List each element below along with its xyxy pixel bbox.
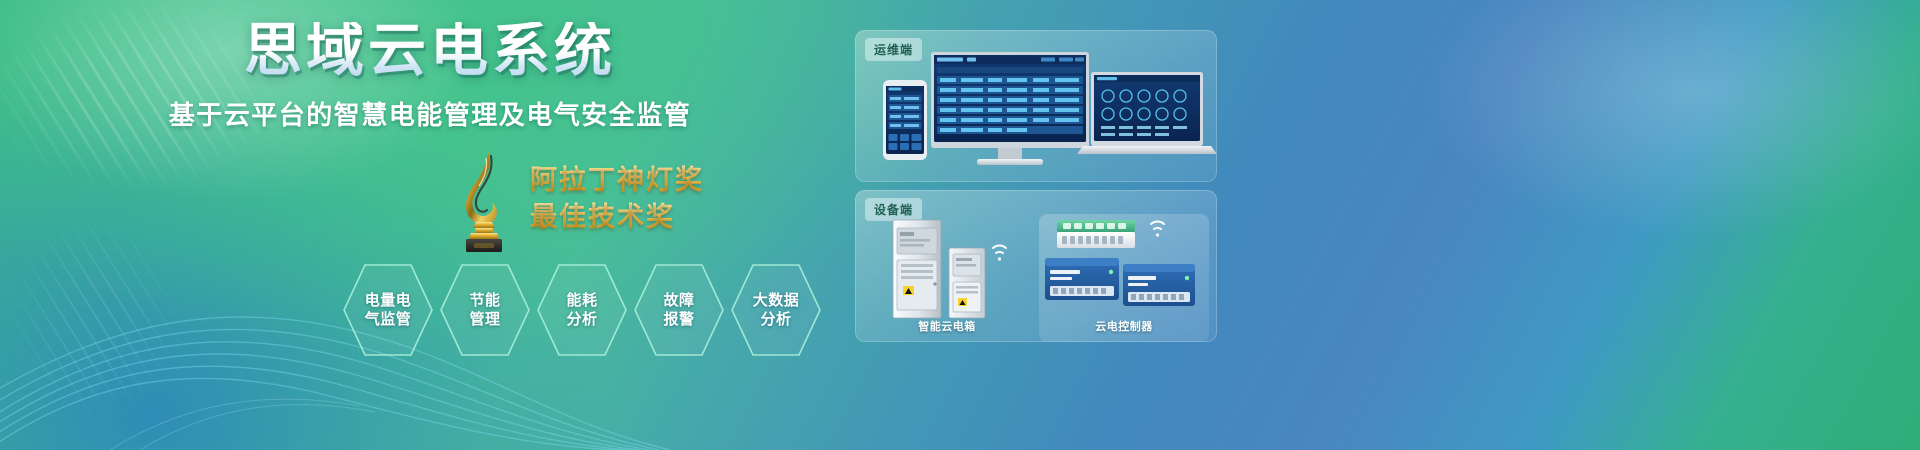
smart-cloud-power-cabinet-item[interactable]: 智能云电箱: [863, 214, 1031, 342]
feature-line-1: 大数据: [753, 291, 800, 311]
feature-badge-big-data-analysis[interactable]: 大数据 分析: [730, 262, 822, 358]
ops-device-mockups: [855, 46, 1217, 176]
device-terminal-panel: 设备端: [855, 190, 1217, 342]
feature-badge-label: 电量电 气监管: [342, 262, 434, 358]
feature-badge-consumption-analysis[interactable]: 能耗 分析: [536, 262, 628, 358]
top-right-glow: [1310, 0, 1920, 300]
award-line-1: 阿拉丁神灯奖: [530, 162, 704, 199]
ops-terminal-panel: 运维端: [855, 30, 1217, 182]
feature-badge-label: 故障 报警: [633, 262, 725, 358]
feature-line-2: 管理: [469, 310, 500, 330]
left-content: 思域云电系统 基于云平台的智慧电能管理及电气安全监管: [0, 0, 860, 450]
feature-badge-label: 大数据 分析: [730, 262, 822, 358]
device-caption: 智能云电箱: [863, 318, 1031, 334]
wifi-icon: [1151, 222, 1164, 237]
feature-badge-energy-saving[interactable]: 节能 管理: [439, 262, 531, 358]
award-text: 阿拉丁神灯奖 最佳技术奖: [530, 162, 704, 237]
cloud-power-controller-item[interactable]: 云电控制器: [1039, 214, 1209, 342]
desktop-monitor-mockup: [931, 52, 1089, 165]
device-caption: 云电控制器: [1039, 318, 1209, 334]
feature-badge-label: 节能 管理: [439, 262, 531, 358]
wifi-icon: [993, 246, 1006, 261]
promo-banner: 思域云电系统 基于云平台的智慧电能管理及电气安全监管: [0, 0, 1920, 450]
feature-badge-power-monitoring[interactable]: 电量电 气监管: [342, 262, 434, 358]
feature-line-1: 故障: [663, 291, 694, 311]
feature-line-2: 分析: [760, 310, 791, 330]
feature-line-2: 气监管: [365, 310, 412, 330]
controller-module-top: [1057, 220, 1135, 248]
cloud-power-controller-icon: [1039, 214, 1209, 322]
controller-module-right: [1123, 264, 1195, 306]
feature-line-2: 报警: [663, 310, 694, 330]
award-line-2: 最佳技术奖: [530, 199, 704, 236]
feature-line-1: 能耗: [566, 291, 597, 311]
feature-line-2: 分析: [566, 310, 597, 330]
feature-line-1: 电量电: [365, 291, 412, 311]
laptop-mockup: [1077, 72, 1217, 154]
controller-module-left: [1045, 258, 1119, 300]
page-title: 思域云电系统: [0, 22, 860, 80]
flame-trophy-icon: [452, 148, 516, 253]
smart-cloud-power-cabinet-icon: [863, 214, 1031, 322]
feature-line-1: 节能: [469, 291, 500, 311]
award-block: 阿拉丁神灯奖 最佳技术奖: [0, 148, 860, 253]
feature-badge-fault-alarm[interactable]: 故障 报警: [633, 262, 725, 358]
feature-badge-label: 能耗 分析: [536, 262, 628, 358]
phone-mockup: [883, 80, 927, 160]
page-subtitle: 基于云平台的智慧电能管理及电气安全监管: [0, 95, 860, 132]
feature-hexagon-row: 电量电 气监管 节能 管理 能耗 分析: [342, 262, 842, 357]
